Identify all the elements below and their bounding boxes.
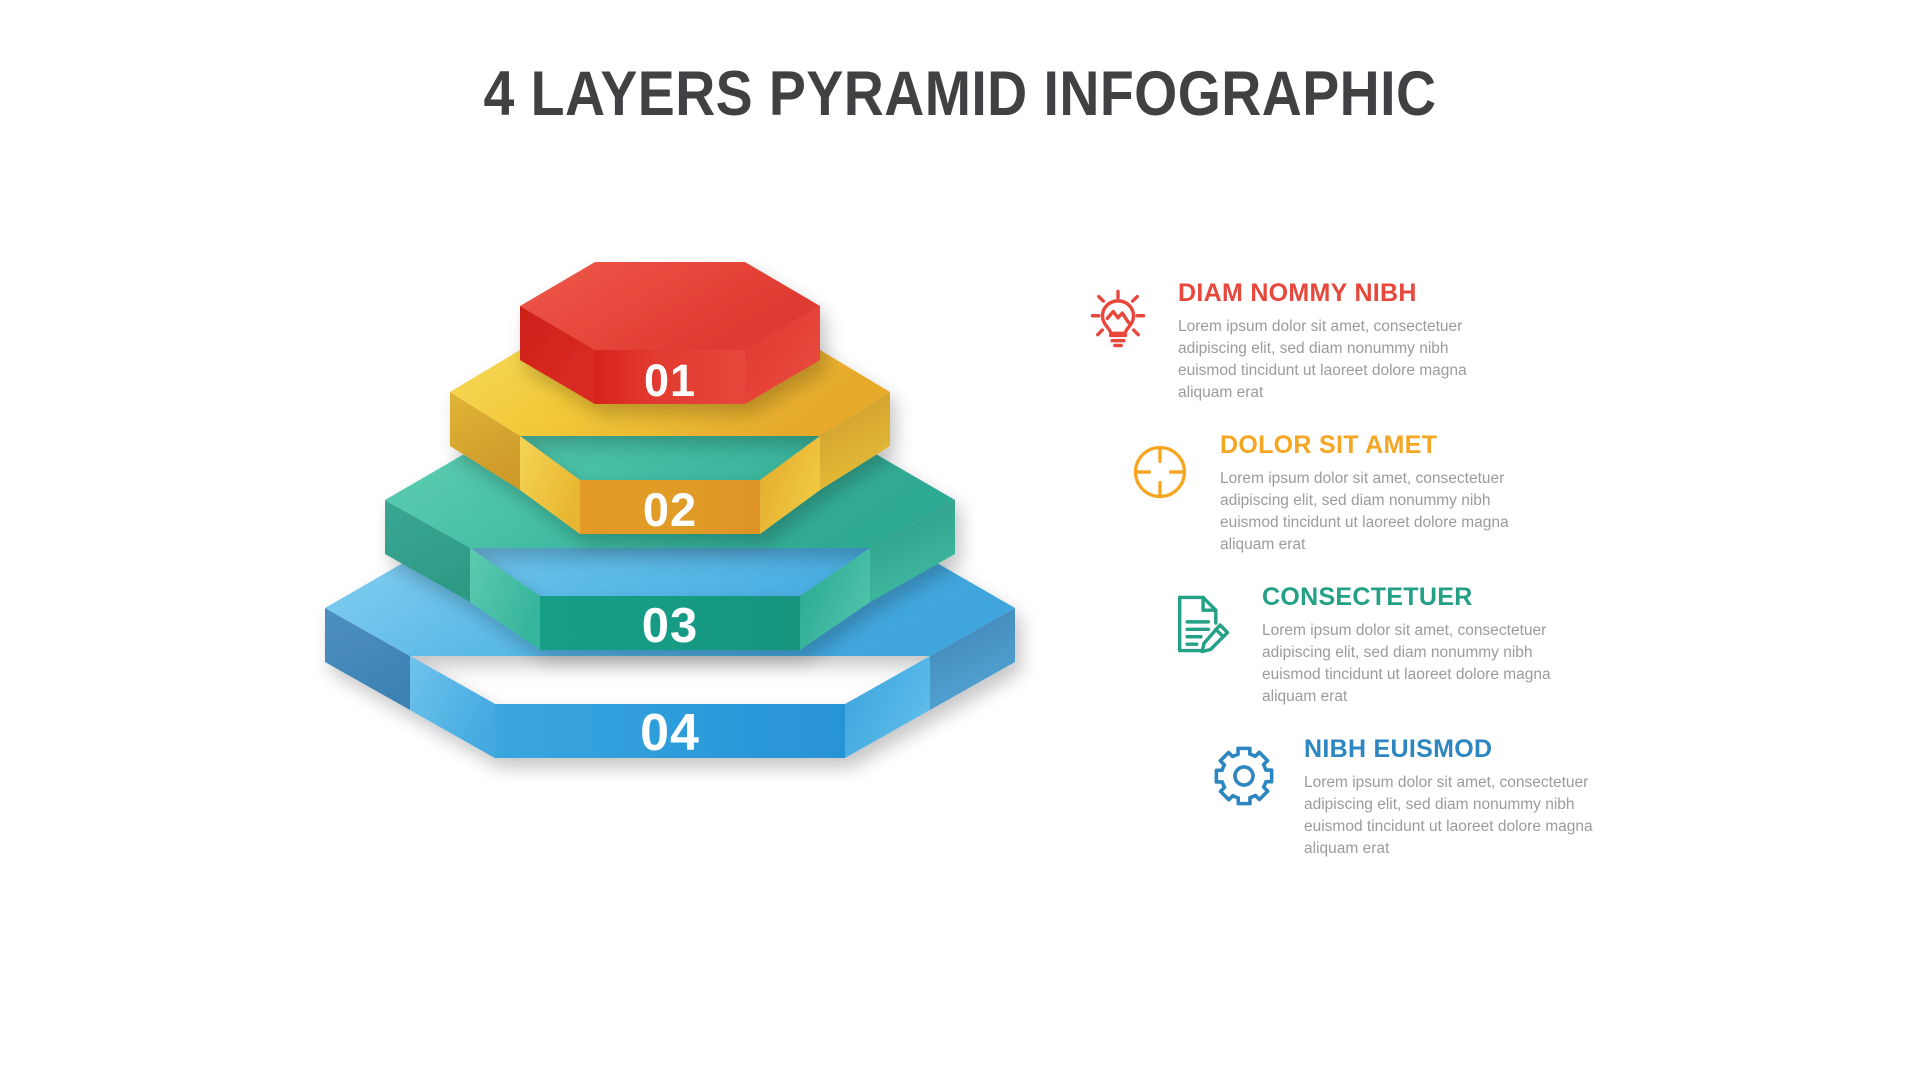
feature-item-1[interactable]: DIAM NOMMY NIBH Lorem ipsum dolor sit am… (1080, 280, 1478, 404)
layer-number-01: 01 (644, 355, 696, 406)
feature-description-4: Lorem ipsum dolor sit amet, consectetuer… (1304, 772, 1604, 860)
feature-text-3: CONSECTETUER Lorem ipsum dolor sit amet,… (1262, 584, 1562, 708)
layer-number-02: 02 (643, 483, 697, 536)
feature-description-3: Lorem ipsum dolor sit amet, consectetuer… (1262, 620, 1562, 708)
feature-text-2: DOLOR SIT AMET Lorem ipsum dolor sit ame… (1220, 432, 1520, 556)
document-pencil-icon (1164, 586, 1240, 662)
pyramid-layer-01[interactable]: 01 (520, 262, 820, 406)
feature-item-2[interactable]: DOLOR SIT AMET Lorem ipsum dolor sit ame… (1122, 432, 1520, 556)
feature-item-3[interactable]: CONSECTETUER Lorem ipsum dolor sit amet,… (1164, 584, 1562, 708)
layer-number-04: 04 (640, 704, 700, 762)
lightbulb-icon (1080, 282, 1156, 358)
target-icon (1122, 434, 1198, 510)
pyramid-diagram: 04 03 02 (230, 210, 1070, 970)
gear-icon (1206, 738, 1282, 814)
feature-text-4: NIBH EUISMOD Lorem ipsum dolor sit amet,… (1304, 736, 1604, 860)
layer-number-03: 03 (642, 599, 699, 653)
feature-title-3: CONSECTETUER (1262, 584, 1562, 612)
page-title: 4 LAYERS PYRAMID INFOGRAPHIC (115, 58, 1805, 130)
infographic-canvas: 4 LAYERS PYRAMID INFOGRAPHIC (0, 0, 1920, 1080)
pyramid-svg: 04 03 02 (230, 210, 1070, 970)
feature-title-2: DOLOR SIT AMET (1220, 432, 1520, 460)
feature-title-1: DIAM NOMMY NIBH (1178, 280, 1478, 308)
feature-description-1: Lorem ipsum dolor sit amet, consectetuer… (1178, 316, 1478, 404)
feature-item-4[interactable]: NIBH EUISMOD Lorem ipsum dolor sit amet,… (1206, 736, 1604, 860)
feature-description-2: Lorem ipsum dolor sit amet, consectetuer… (1220, 468, 1520, 556)
feature-list: DIAM NOMMY NIBH Lorem ipsum dolor sit am… (1080, 280, 1880, 920)
feature-text-1: DIAM NOMMY NIBH Lorem ipsum dolor sit am… (1178, 280, 1478, 404)
feature-title-4: NIBH EUISMOD (1304, 736, 1604, 764)
